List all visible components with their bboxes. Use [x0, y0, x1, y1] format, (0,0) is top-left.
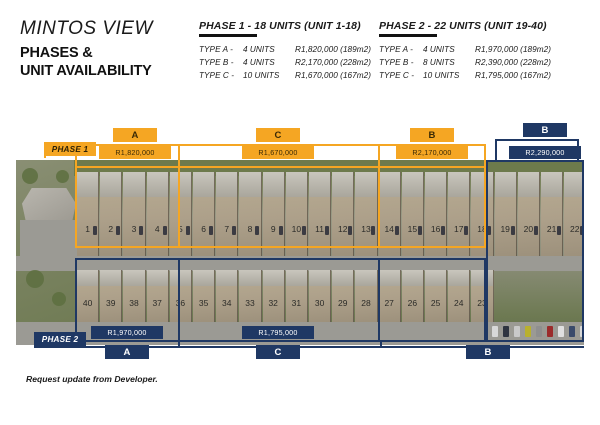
top-right-connector-drop [495, 139, 497, 161]
tree-icon [22, 168, 38, 184]
legend-units: 4 UNITS [243, 56, 295, 69]
legend-price: R2,170,000 (228m2) [295, 56, 371, 69]
tree-icon [52, 292, 66, 306]
phase-2-tag: PHASE 2 [34, 332, 86, 346]
legend-underline [199, 34, 257, 37]
legend-price: R2,390,000 (228m2) [475, 56, 551, 69]
subtitle-line-2: UNIT AVAILABILITY [20, 63, 153, 81]
legend-units: 10 UNITS [423, 69, 475, 82]
legend-row: TYPE C -10 UNITSR1,795,000 (167m2) [379, 69, 551, 82]
legend-phase-2-heading: PHASE 2 - 22 UNITS (UNIT 19-40) [379, 20, 551, 32]
legend-type: TYPE A - [379, 43, 423, 56]
legend-type: TYPE A - [199, 43, 243, 56]
legend-row: TYPE B -4 UNITSR2,170,000 (228m2) [199, 56, 371, 69]
block-c-top-boundary [178, 166, 380, 248]
legend-units: 4 UNITS [243, 43, 295, 56]
legend-price: R1,970,000 (189m2) [475, 43, 551, 56]
phase-2-right-boundary [486, 160, 584, 342]
top-connector-drop [378, 144, 380, 168]
bottom-price-badge-a[interactable]: R1,970,000 [91, 326, 163, 339]
top-connector-drop [178, 144, 180, 168]
phase-1-tag: PHASE 1 [44, 142, 96, 156]
bottom-connector-drop [380, 342, 382, 348]
top-type-badge-a[interactable]: A [113, 128, 157, 142]
bottom-type-badge-c[interactable]: C [256, 345, 300, 359]
top-type-badge-c[interactable]: C [256, 128, 300, 142]
top-price-badge-c[interactable]: R1,670,000 [242, 146, 314, 159]
page-title: MINTOS VIEW PHASES & UNIT AVAILABILITY [20, 18, 153, 80]
legend-row: TYPE A -4 UNITSR1,820,000 (189m2) [199, 43, 371, 56]
legend-phase-1: PHASE 1 - 18 UNITS (UNIT 1-18) TYPE A -4… [199, 20, 371, 82]
legend-underline [379, 34, 437, 37]
top-price-badge-b-phase2[interactable]: R2,290,000 [509, 146, 581, 159]
legend-row: TYPE C -10 UNITSR1,670,000 (167m2) [199, 69, 371, 82]
legend-price: R1,670,000 (167m2) [295, 69, 371, 82]
entrance-driveway [20, 220, 80, 260]
top-type-badge-b-phase2[interactable]: B [523, 123, 567, 137]
page-subtitle: PHASES & UNIT AVAILABILITY [20, 45, 153, 80]
legend-phase-2: PHASE 2 - 22 UNITS (UNIT 19-40) TYPE A -… [379, 20, 551, 82]
bottom-price-badge-c[interactable]: R1,795,000 [242, 326, 314, 339]
legend-row: TYPE A -4 UNITSR1,970,000 (189m2) [379, 43, 551, 56]
top-price-badge-b[interactable]: R2,170,000 [396, 146, 468, 159]
tree-icon [26, 270, 44, 288]
tree-icon [56, 170, 69, 183]
legend-price: R1,795,000 (167m2) [475, 69, 551, 82]
top-right-connector-rail [495, 139, 579, 141]
legend-type: TYPE C - [379, 69, 423, 82]
top-type-badge-b[interactable]: B [410, 128, 454, 142]
legend-units: 8 UNITS [423, 56, 475, 69]
legend-type: TYPE B - [199, 56, 243, 69]
top-price-badge-a[interactable]: R1,820,000 [99, 146, 171, 159]
top-connector-drop [484, 144, 486, 168]
legend-type: TYPE C - [199, 69, 243, 82]
legend-units: 4 UNITS [423, 43, 475, 56]
bottom-type-badge-b[interactable]: B [466, 345, 510, 359]
project-name: MINTOS VIEW [20, 18, 153, 40]
legend-row: TYPE B -8 UNITSR2,390,000 (228m2) [379, 56, 551, 69]
legend-price: R1,820,000 (189m2) [295, 43, 371, 56]
legend-type: TYPE B - [379, 56, 423, 69]
subtitle-line-1: PHASES & [20, 45, 153, 63]
legend-phase-1-heading: PHASE 1 - 18 UNITS (UNIT 1-18) [199, 20, 371, 32]
bottom-connector-drop [178, 342, 180, 348]
bottom-type-badge-a[interactable]: A [105, 345, 149, 359]
legend-units: 10 UNITS [243, 69, 295, 82]
footnote: Request update from Developer. [26, 374, 158, 384]
